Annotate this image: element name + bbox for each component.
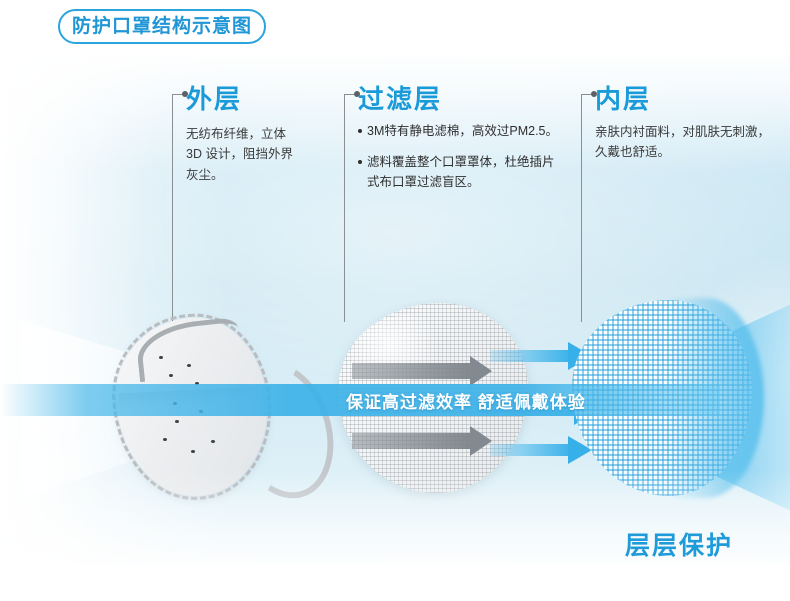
page-title: 防护口罩结构示意图 bbox=[72, 17, 252, 36]
center-banner-text: 保证高过滤效率 舒适佩戴体验 bbox=[346, 388, 746, 413]
column-inner-layer: 内层 亲肤内衬面料，对肌肤无刺激， 久戴也舒适。 bbox=[595, 86, 780, 163]
arrow-head-icon bbox=[470, 356, 492, 386]
pore-dot-icon bbox=[169, 374, 173, 377]
body-line: 无纺布纤维，立体 bbox=[186, 124, 346, 144]
bullet-text: 滤料覆盖整个口罩罩体，杜绝插片 式布口罩过滤盲区。 bbox=[367, 153, 555, 193]
heading-inner-layer: 内层 bbox=[595, 86, 780, 112]
infographic-canvas: 防护口罩结构示意图 外层 无纺布纤维，立体 3D 设计，阻挡外界 灰尘。 过滤层… bbox=[0, 0, 790, 601]
body-line: 3M特有静电滤棉，高效过PM2.5。 bbox=[367, 124, 558, 138]
body-line: 滤料覆盖整个口罩罩体，杜绝插片 bbox=[367, 155, 555, 169]
bullet-dot-icon bbox=[358, 160, 362, 164]
body-outer-layer: 无纺布纤维，立体 3D 设计，阻挡外界 灰尘。 bbox=[186, 124, 346, 185]
pore-dot-icon bbox=[159, 356, 163, 359]
body-line: 灰尘。 bbox=[186, 165, 346, 185]
heading-outer-layer: 外层 bbox=[186, 86, 346, 112]
pore-dot-icon bbox=[187, 364, 191, 367]
heading-filter-layer: 过滤层 bbox=[358, 86, 593, 112]
arrow-shaft bbox=[352, 433, 470, 449]
leader-line-outer bbox=[172, 94, 173, 322]
pore-dot-icon bbox=[191, 450, 195, 453]
bullet-dot-icon bbox=[358, 129, 362, 133]
pore-dot-icon bbox=[163, 438, 167, 441]
bullet-item: 3M特有静电滤棉，高效过PM2.5。 bbox=[358, 122, 593, 142]
body-line: 久戴也舒适。 bbox=[595, 142, 780, 162]
arrow-head-icon bbox=[470, 426, 492, 456]
arrow-shaft bbox=[352, 363, 470, 379]
title-pill: 防护口罩结构示意图 bbox=[58, 9, 266, 44]
arrow-shaft bbox=[490, 444, 568, 456]
body-inner-layer: 亲肤内衬面料，对肌肤无刺激， 久戴也舒适。 bbox=[595, 122, 780, 163]
bullet-item: 滤料覆盖整个口罩罩体，杜绝插片 式布口罩过滤盲区。 bbox=[358, 153, 593, 193]
body-line: 3D 设计，阻挡外界 bbox=[186, 144, 346, 164]
pore-dot-icon bbox=[211, 440, 215, 443]
bottom-tagline: 层层保护 bbox=[625, 526, 733, 562]
pore-dot-icon bbox=[175, 420, 179, 423]
body-line: 亲肤内衬面料，对肌肤无刺激， bbox=[595, 122, 780, 142]
bullet-text: 3M特有静电滤棉，高效过PM2.5。 bbox=[367, 122, 558, 142]
column-outer-layer: 外层 无纺布纤维，立体 3D 设计，阻挡外界 灰尘。 bbox=[186, 86, 346, 185]
column-filter-layer: 过滤层 3M特有静电滤棉，高效过PM2.5。 滤料覆盖整个口罩罩体，杜绝插片 式… bbox=[358, 86, 593, 192]
body-line: 式布口罩过滤盲区。 bbox=[367, 175, 480, 189]
arrow-shaft bbox=[490, 350, 568, 362]
